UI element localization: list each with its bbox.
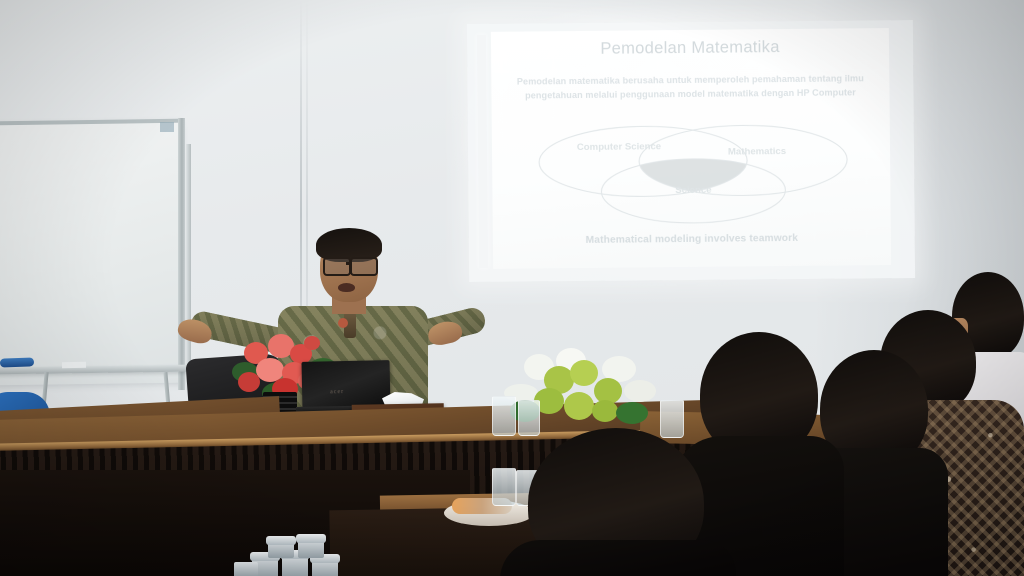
cup-lid — [296, 534, 326, 543]
drinking-glass — [518, 400, 540, 436]
slide-caption: Mathematical modeling involves teamwork — [493, 232, 891, 247]
drinking-glass — [660, 400, 684, 438]
slide-left-edge — [477, 35, 488, 268]
slide-body-text: Pemodelan matematika berusaha untuk memp… — [511, 72, 869, 103]
whiteboard-corner-bracket — [160, 122, 174, 132]
venn-label-mathematics: Mathematics — [699, 146, 815, 158]
lecture-room-photo: Pemodelan Matematika Pemodelan matematik… — [0, 0, 1024, 576]
audience-member-front-center-body — [500, 540, 736, 576]
presenter-eyeglasses-bridge — [346, 262, 352, 265]
presenter-badge — [338, 318, 348, 328]
venn-diagram: Computer Science Mathematics Science — [525, 121, 858, 229]
drinking-glass — [492, 468, 516, 506]
projected-slide: Pemodelan Matematika Pemodelan matematik… — [477, 28, 891, 270]
venn-label-science: Science — [637, 184, 749, 196]
whiteboard-eraser — [62, 362, 86, 368]
whiteboard — [0, 121, 184, 386]
presenter-eyeglasses — [350, 257, 378, 276]
slide-title: Pemodelan Matematika — [491, 37, 889, 60]
cup-lid — [266, 536, 296, 545]
presenter-eyeglasses — [323, 257, 351, 276]
laptop[interactable]: acer — [302, 360, 391, 410]
drinking-glass — [492, 396, 516, 436]
presenter-mouth — [338, 283, 355, 292]
laptop-brand-logo: acer — [330, 389, 344, 395]
venn-label-computer-science: Computer Science — [559, 141, 679, 153]
cup — [234, 562, 258, 576]
whiteboard-marker — [0, 357, 34, 367]
slide-surface: Pemodelan Matematika Pemodelan matematik… — [491, 28, 891, 269]
